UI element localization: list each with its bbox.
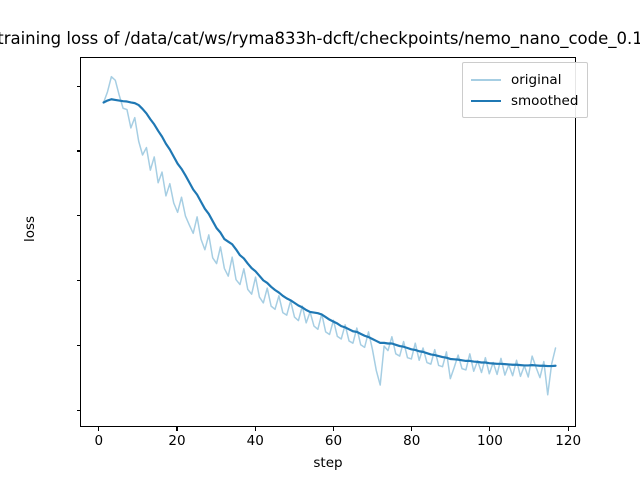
x-tick-mark — [176, 427, 177, 431]
legend-item-original: original — [471, 69, 578, 90]
legend-label-smoothed: smoothed — [511, 93, 578, 109]
y-axis-label: loss — [22, 216, 38, 242]
legend-item-smoothed: smoothed — [471, 90, 578, 111]
x-tick-label: 100 — [477, 433, 503, 449]
x-tick-mark — [489, 427, 490, 431]
matplotlib-figure: training loss of /data/cat/ws/ryma833h-d… — [0, 0, 640, 480]
x-tick-mark — [98, 427, 99, 431]
x-tick-label: 80 — [403, 433, 420, 449]
x-tick-label: 20 — [168, 433, 185, 449]
x-tick-mark — [255, 427, 256, 431]
legend-swatch-smoothed — [471, 100, 501, 102]
x-tick-label: 40 — [247, 433, 264, 449]
legend-label-original: original — [511, 72, 561, 88]
x-tick-mark — [568, 427, 569, 431]
line-series-original — [104, 77, 556, 395]
page-title: training loss of /data/cat/ws/ryma833h-d… — [0, 28, 640, 50]
legend-swatch-original — [471, 79, 501, 81]
x-tick-mark — [333, 427, 334, 431]
x-tick-label: 0 — [94, 433, 103, 449]
x-tick-mark — [411, 427, 412, 431]
legend: original smoothed — [462, 62, 588, 118]
x-tick-label: 60 — [325, 433, 342, 449]
x-axis-label: step — [313, 455, 342, 471]
x-tick-label: 120 — [555, 433, 581, 449]
line-series-smoothed — [104, 99, 556, 366]
